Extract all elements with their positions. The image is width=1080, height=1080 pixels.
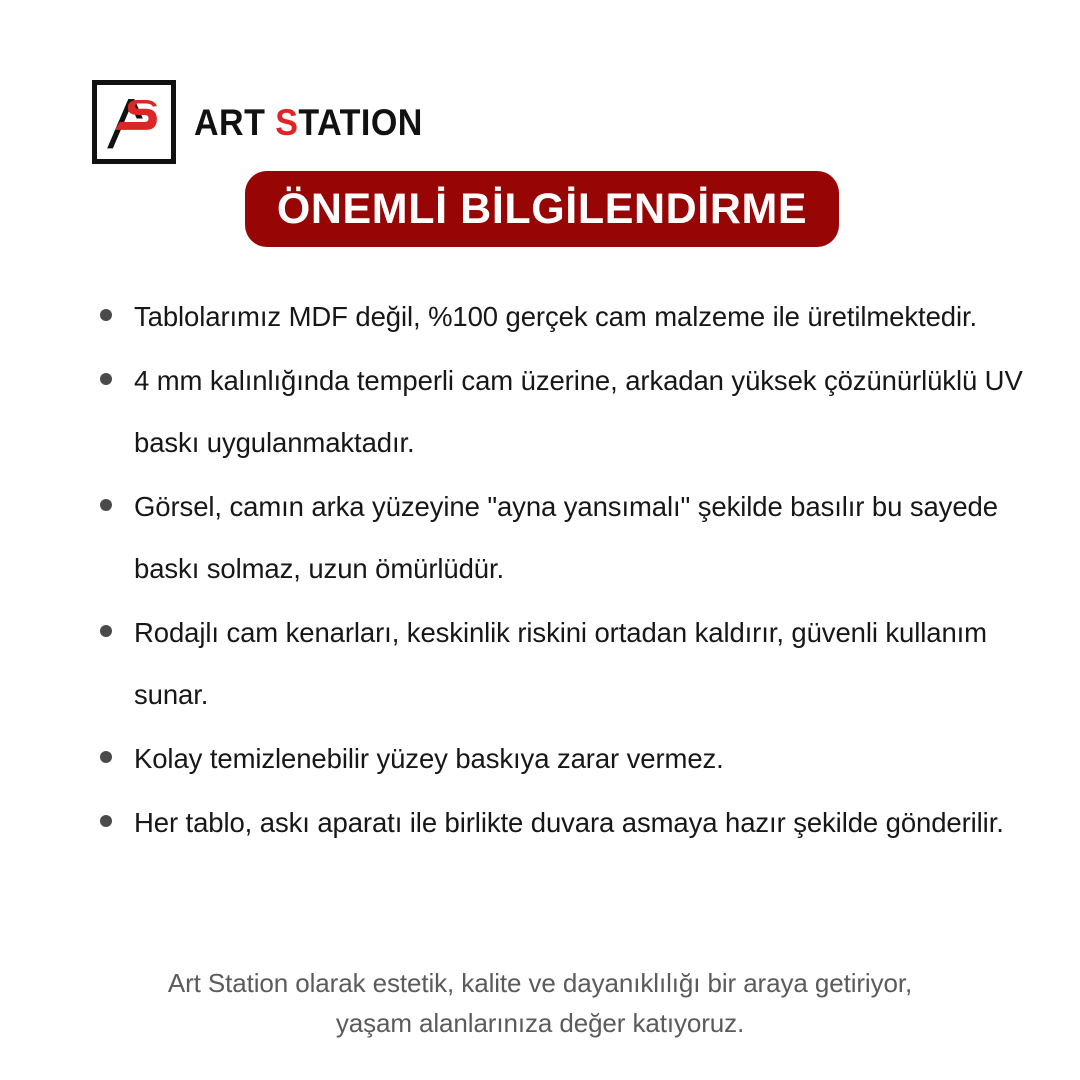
list-item-text: Rodajlı cam kenarları, keskinlik riskini…	[134, 602, 1040, 726]
bullet-dot-icon	[100, 751, 112, 763]
footer-line-1: Art Station olarak estetik, kalite ve da…	[0, 963, 1080, 1003]
list-item: Her tablo, askı aparatı ile birlikte duv…	[100, 792, 1040, 854]
wordmark-part2: TATION	[298, 102, 422, 143]
list-item: 4 mm kalınlığında temperli cam üzerine, …	[100, 350, 1040, 474]
list-item-text: Tablolarımız MDF değil, %100 gerçek cam …	[134, 286, 1040, 348]
bullet-dot-icon	[100, 499, 112, 511]
as-monogram-icon	[92, 80, 176, 164]
footer-tagline: Art Station olarak estetik, kalite ve da…	[0, 963, 1080, 1043]
list-item: Tablolarımız MDF değil, %100 gerçek cam …	[100, 286, 1040, 348]
bullet-list: Tablolarımız MDF değil, %100 gerçek cam …	[100, 286, 1040, 856]
list-item-text: Her tablo, askı aparatı ile birlikte duv…	[134, 792, 1040, 854]
brand-logo: ART STATION	[92, 80, 443, 164]
wordmark-accent-letter: S	[275, 102, 298, 143]
list-item-text: Kolay temizlenebilir yüzey baskıya zarar…	[134, 728, 1040, 790]
wordmark-part1: ART	[194, 102, 275, 143]
info-card-page: ART STATION ÖNEMLİ BİLGİLENDİRME Tablola…	[0, 0, 1080, 1080]
list-item-text: 4 mm kalınlığında temperli cam üzerine, …	[134, 350, 1040, 474]
list-item: Kolay temizlenebilir yüzey baskıya zarar…	[100, 728, 1040, 790]
bullet-dot-icon	[100, 625, 112, 637]
bullet-dot-icon	[100, 815, 112, 827]
list-item: Görsel, camın arka yüzeyine "ayna yansım…	[100, 476, 1040, 600]
footer-line-2: yaşam alanlarınıza değer katıyoruz.	[0, 1003, 1080, 1043]
banner-title: ÖNEMLİ BİLGİLENDİRME	[277, 188, 807, 231]
bullet-dot-icon	[100, 373, 112, 385]
brand-wordmark: ART STATION	[194, 104, 423, 141]
bullet-dot-icon	[100, 309, 112, 321]
list-item-text: Görsel, camın arka yüzeyine "ayna yansım…	[134, 476, 1040, 600]
banner-pill: ÖNEMLİ BİLGİLENDİRME	[245, 171, 839, 247]
list-item: Rodajlı cam kenarları, keskinlik riskini…	[100, 602, 1040, 726]
